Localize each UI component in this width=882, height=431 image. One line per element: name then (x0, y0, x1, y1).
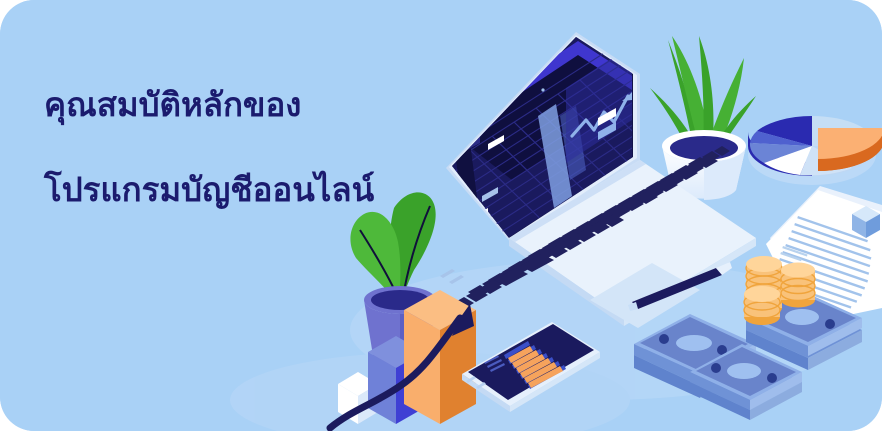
banner-card: คุณสมบัติหลักของ โปรแกรมบัญชีออนไลน์ (0, 0, 882, 431)
headline-line-2: โปรแกรมบัญชีออนไลน์ (44, 169, 444, 211)
headline-line-1: คุณสมบัติหลักของ (44, 84, 444, 126)
page-title: คุณสมบัติหลักของ โปรแกรมบัญชีออนไลน์ (44, 42, 444, 253)
